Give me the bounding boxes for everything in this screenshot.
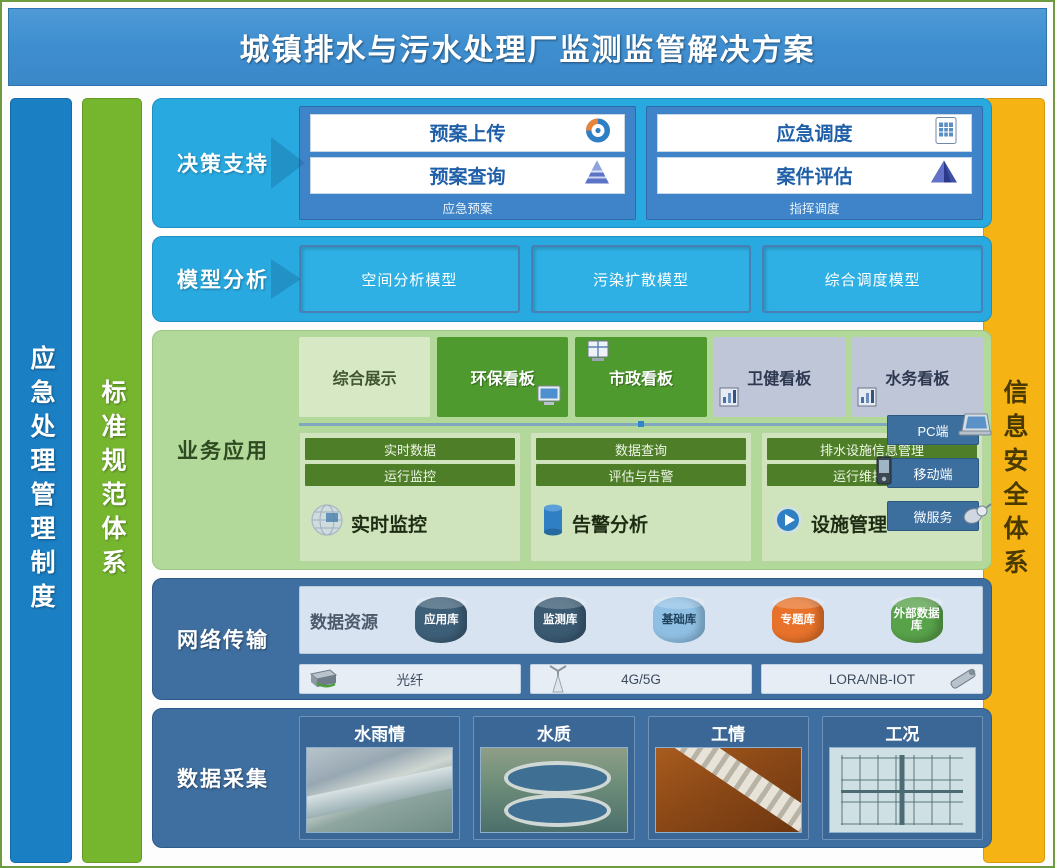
decision-group-caption: 应急预案 <box>310 199 625 216</box>
acquisition-card-label: 水雨情 <box>300 717 459 747</box>
dashboard-row: 综合展示 环保看板 <box>299 337 983 417</box>
database-slot[interactable]: 监测库 <box>505 597 616 643</box>
channel-label: PC端 <box>917 421 948 440</box>
acquisition-card-condition[interactable]: 工况 <box>822 716 983 840</box>
window-icon <box>585 339 611 368</box>
transport-label: 光纤 <box>397 669 424 689</box>
chart-icon <box>719 387 739 412</box>
acquisition-card-label: 工情 <box>649 717 808 747</box>
decision-item-label: 案件评估 <box>776 162 852 189</box>
business-feature-alarm[interactable]: 告警分析 <box>536 490 746 556</box>
chart-icon <box>857 387 877 412</box>
channel-mobile[interactable]: 移动端 <box>887 458 979 488</box>
layer-network-transmission: 网络传输 数据资源 应用库 监测库 基础库 专题库 <box>152 578 992 700</box>
mobile-icon <box>872 455 896 490</box>
database-slot[interactable]: 应用库 <box>386 597 497 643</box>
database-monitor: 监测库 <box>534 597 586 643</box>
dashboard-card-label: 环保看板 <box>471 365 535 389</box>
channel-label: 微服务 <box>913 507 952 526</box>
decision-group-command-dispatch: 应急调度 案件评估 <box>646 106 983 220</box>
business-column-monitoring: 实时数据 运行监控 <box>299 432 521 562</box>
page-title: 城镇排水与污水处理厂监测监管解决方案 <box>240 25 816 69</box>
decision-group-emergency-plan: 预案上传 预案查询 <box>299 106 636 220</box>
layer-model-analysis: 模型分析 空间分析模型 污染扩散模型 综合调度模型 <box>152 236 992 322</box>
acquisition-photo-pipe <box>655 747 802 833</box>
play-icon <box>771 503 805 543</box>
dashboard-divider <box>299 421 983 426</box>
diagram-page: 城镇排水与污水处理厂监测监管解决方案 应急处理管理制度 标准规范体系 信息安全体… <box>0 0 1055 868</box>
pillar-emergency-label: 应急处理管理制度 <box>23 345 59 617</box>
service-icon <box>962 502 992 531</box>
database-external: 外部数据库 <box>891 597 943 643</box>
pillar-standard-label: 标准规范体系 <box>94 379 130 583</box>
database-slot[interactable]: 专题库 <box>742 597 853 643</box>
decision-item-label: 应急调度 <box>776 119 852 146</box>
acquisition-card-rainfall[interactable]: 水雨情 <box>299 716 460 840</box>
dashboard-card-label: 市政看板 <box>609 365 673 389</box>
business-layer-label: 业务应用 <box>153 331 293 569</box>
decision-layer-label: 决策支持 <box>153 99 293 227</box>
business-feature-label: 告警分析 <box>572 510 648 537</box>
decision-item[interactable]: 预案上传 <box>310 114 625 152</box>
business-button[interactable]: 运行监控 <box>305 464 515 486</box>
transport-label: LORA/NB-IOT <box>829 672 915 687</box>
business-feature-label: 设施管理 <box>811 510 887 537</box>
transport-row: 光纤 4G/5G LORA/NB-IOT <box>299 664 983 694</box>
decision-item[interactable]: 案件评估 <box>657 157 972 195</box>
page-title-bar: 城镇排水与污水处理厂监测监管解决方案 <box>8 8 1047 86</box>
business-button[interactable]: 评估与告警 <box>536 464 746 486</box>
network-layer-label: 网络传输 <box>153 579 293 699</box>
database-basic: 基础库 <box>653 597 705 643</box>
dashboard-card-municipal[interactable]: 市政看板 <box>575 337 706 417</box>
laptop-icon <box>958 411 992 442</box>
pillar-information-security: 信息安全体系 <box>983 98 1045 863</box>
layer-decision-support: 决策支持 预案上传 <box>152 98 992 228</box>
channel-list: PC端 <box>887 415 979 531</box>
dashboard-card-overview[interactable]: 综合展示 <box>299 337 430 417</box>
acquisition-card-label: 水质 <box>474 717 633 747</box>
channel-label: 移动端 <box>913 464 952 483</box>
acquisition-card-label: 工况 <box>823 717 982 747</box>
database-slot[interactable]: 外部数据库 <box>861 597 972 643</box>
dashboard-card-water[interactable]: 水务看板 <box>852 337 983 417</box>
pillar-emergency-management: 应急处理管理制度 <box>10 98 72 863</box>
layer-data-acquisition: 数据采集 水雨情 水质 工情 工况 <box>152 708 992 848</box>
transport-lora[interactable]: LORA/NB-IOT <box>761 664 983 694</box>
business-button[interactable]: 实时数据 <box>305 438 515 460</box>
model-layer-label: 模型分析 <box>153 237 293 321</box>
transport-label: 4G/5G <box>621 672 661 687</box>
data-resource-title: 数据资源 <box>310 608 378 633</box>
business-feature-label: 实时监控 <box>351 510 427 537</box>
dashboard-card-health[interactable]: 卫健看板 <box>714 337 845 417</box>
channel-microservice[interactable]: 微服务 <box>887 501 979 531</box>
business-button[interactable]: 数据查询 <box>536 438 746 460</box>
acquisition-photo-tank <box>480 747 627 833</box>
diamond-icon <box>929 159 959 192</box>
channel-pc[interactable]: PC端 <box>887 415 979 445</box>
grid-table-icon <box>933 115 959 150</box>
dashboard-card-label: 综合展示 <box>333 365 397 389</box>
transport-fiber[interactable]: 光纤 <box>299 664 521 694</box>
dashboard-card-environment[interactable]: 环保看板 <box>437 337 568 417</box>
decision-item[interactable]: 应急调度 <box>657 114 972 152</box>
acquisition-layer-label: 数据采集 <box>153 709 293 847</box>
acquisition-photo-scada <box>829 747 976 833</box>
model-box[interactable]: 综合调度模型 <box>762 245 983 313</box>
layer-business-application: 业务应用 综合展示 环保看板 <box>152 330 992 570</box>
business-feature-realtime[interactable]: 实时监控 <box>305 490 515 556</box>
business-column-query: 数据查询 评估与告警 告警分析 <box>530 432 752 562</box>
database-icon <box>540 503 566 543</box>
decision-item-label: 预案查询 <box>429 162 505 189</box>
transport-cellular[interactable]: 4G/5G <box>530 664 752 694</box>
database-app: 应用库 <box>415 597 467 643</box>
data-resource-strip: 数据资源 应用库 监测库 基础库 专题库 外部数据库 <box>299 586 983 654</box>
decision-group-caption: 指挥调度 <box>657 199 972 216</box>
database-topic: 专题库 <box>772 597 824 643</box>
layer-stack: 决策支持 预案上传 <box>152 98 992 863</box>
sensor-icon <box>946 664 980 697</box>
acquisition-photo-canal <box>306 747 453 833</box>
fiber-icon <box>306 665 340 696</box>
acquisition-card-engineering[interactable]: 工情 <box>648 716 809 840</box>
database-slot[interactable]: 基础库 <box>624 597 735 643</box>
decision-item-label: 预案上传 <box>429 119 505 146</box>
model-box[interactable]: 污染扩散模型 <box>531 245 752 313</box>
gauge-icon <box>584 116 612 149</box>
dashboard-card-label: 卫健看板 <box>747 365 811 389</box>
model-box[interactable]: 空间分析模型 <box>299 245 520 313</box>
dashboard-card-label: 水务看板 <box>885 365 949 389</box>
pillar-standard-system: 标准规范体系 <box>82 98 142 863</box>
acquisition-card-quality[interactable]: 水质 <box>473 716 634 840</box>
monitor-icon <box>536 384 562 413</box>
decision-item[interactable]: 预案查询 <box>310 157 625 195</box>
pyramid-icon <box>582 160 612 191</box>
pillar-security-label: 信息安全体系 <box>996 379 1032 583</box>
antenna-icon <box>545 663 571 698</box>
globe-icon <box>309 502 345 544</box>
